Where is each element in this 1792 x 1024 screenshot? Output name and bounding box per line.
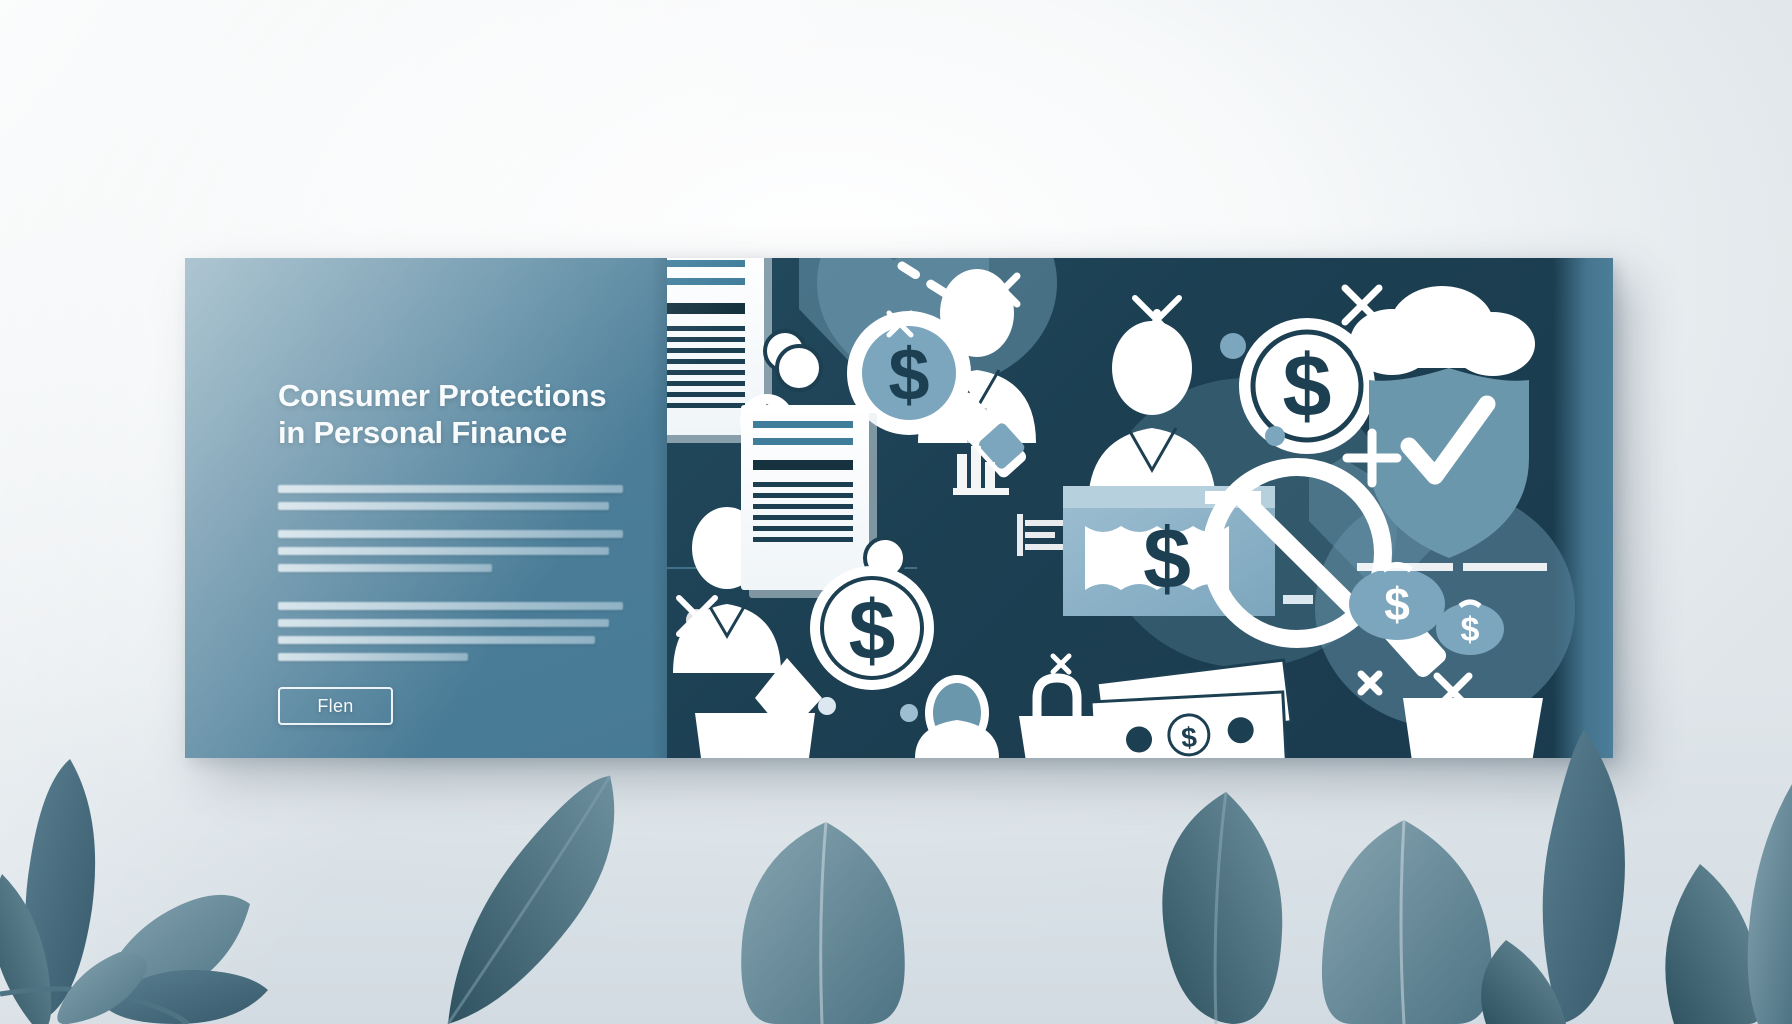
dash-icon	[1283, 595, 1313, 604]
paragraph-1	[278, 485, 623, 510]
headline-line-2: in Personal Finance	[278, 415, 608, 452]
leaf-group-center-right	[1162, 792, 1492, 1024]
svg-text:$: $	[888, 333, 929, 416]
headline-line-1: Consumer Protections	[278, 378, 606, 413]
shield-check-icon	[1369, 368, 1529, 558]
person-icon	[1088, 321, 1216, 506]
dash-icon	[1357, 563, 1453, 571]
text-line	[278, 485, 623, 493]
leaf-group-center-left	[448, 776, 614, 1024]
paragraph-2	[278, 530, 623, 572]
svg-text:$: $	[1461, 611, 1480, 649]
text-line	[278, 602, 623, 610]
leaf-group-right	[1481, 730, 1792, 1024]
body-copy	[278, 485, 623, 661]
svg-text:$: $	[1283, 336, 1332, 435]
dot-icon	[1265, 426, 1285, 446]
text-line	[278, 619, 609, 627]
money-bag-icon: $	[1436, 602, 1504, 655]
text-line	[278, 636, 595, 644]
chart-bars-icon	[1017, 514, 1069, 556]
x-mark-icon	[1345, 288, 1379, 322]
paragraph-3	[278, 602, 623, 661]
coin-stack-icon	[765, 331, 821, 390]
dash-icon	[1463, 563, 1547, 571]
svg-text:$: $	[1384, 578, 1410, 630]
text-line	[278, 530, 623, 538]
dot-icon	[709, 525, 741, 557]
svg-text:$: $	[1143, 511, 1191, 607]
text-line	[278, 502, 609, 510]
text-line	[278, 653, 468, 661]
plant-leaves	[0, 664, 1792, 1024]
money-bag-icon: $	[1349, 565, 1445, 640]
text-line	[278, 564, 492, 572]
leaf-group-center	[741, 822, 905, 1024]
cloud-icon	[1350, 286, 1535, 376]
text-line	[278, 547, 609, 555]
svg-text:$: $	[849, 583, 896, 677]
page-title: Consumer Protections in Personal Finance	[278, 378, 608, 451]
dot-icon	[1220, 333, 1246, 359]
